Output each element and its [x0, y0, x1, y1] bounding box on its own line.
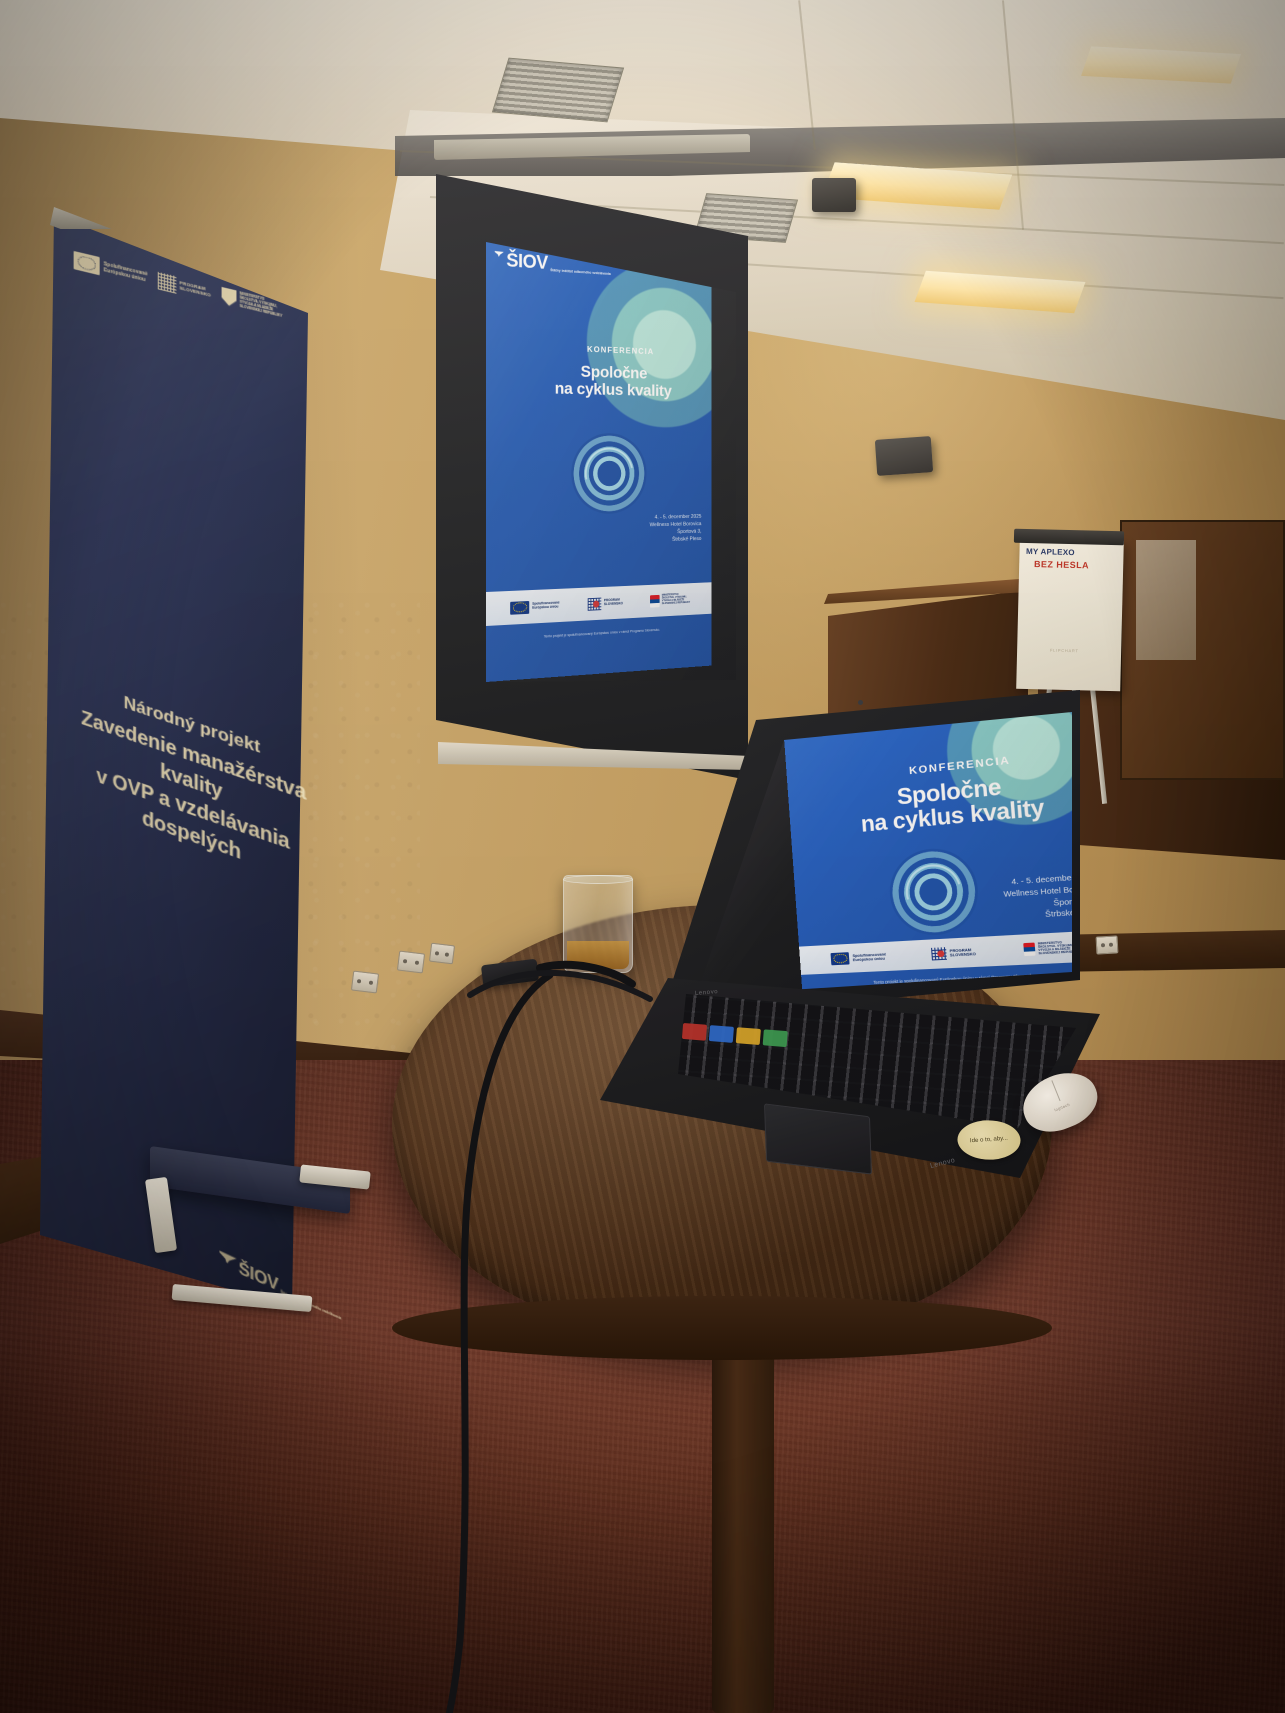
program-line2: SLOVENSKO: [604, 601, 623, 606]
slide-logo-strip: Spolufinancované Európskou úniou PROGRAM…: [799, 929, 1074, 974]
program-slovensko-text: PROGRAM SLOVENSKO: [949, 947, 976, 957]
siov-bird-icon: [219, 1251, 236, 1268]
eu-cofunding-text: Spolufinancované Európskou úniou: [852, 952, 886, 962]
ministry-logo: MINISTERSTVO ŠKOLSTVA, VÝSKUMU, VÝVOJA A…: [1023, 940, 1074, 956]
rollup-program-logo: PROGRAM SLOVENSKO: [158, 271, 211, 301]
wall-speaker: [875, 436, 933, 476]
ministry-logo: MINISTERSTVO ŠKOLSTVA, VÝSKUMU, VÝVOJA A…: [650, 593, 691, 607]
eu-flag-icon: [510, 600, 529, 614]
program-slovensko-logo: PROGRAM SLOVENSKO: [588, 596, 623, 610]
eu-flag-icon: [74, 251, 100, 275]
laptop-round-sticker: Ide o to, aby...: [954, 1118, 1025, 1161]
slide-headline: Spoločne na cyklus kvality: [524, 361, 698, 400]
slide-logo-strip: Spolufinancované Európskou úniou PROGRAM…: [486, 582, 711, 626]
flipchart-text-line2: BEZ HESLA: [1034, 559, 1114, 571]
ministry-line4: SLOVENSKEJ REPUBLIKY: [662, 601, 690, 605]
program-slovensko-logo: PROGRAM SLOVENSKO: [931, 946, 976, 961]
rollup-ministry-logo: MINISTERSTVO ŠKOLSTVA, VÝSKUMU, VÝVOJA A…: [222, 286, 283, 318]
laptop-sticker: [763, 1029, 788, 1047]
slide-headline-line2: na cyklus kvality: [524, 379, 698, 401]
eu-cofunding-text: Spolufinancované Európskou úniou: [532, 602, 559, 611]
rollup-siov-logo: ŠIOV Štátny inštitút odborného vzdelávan…: [219, 1254, 341, 1322]
eu-line2: Európskou úniou: [853, 957, 885, 963]
webcam-icon: [858, 700, 863, 705]
rollup-logo-row: Spolufinancované Európskou úniou PROGRAM…: [74, 251, 298, 323]
projected-slide: ŠIOV Štátny inštitút odborného vzdelávan…: [486, 240, 711, 682]
mouse-button-split: [1051, 1080, 1060, 1101]
cycle-arrow-icon: [576, 438, 642, 509]
program-slovensko-icon: [588, 597, 602, 610]
rollup-siov-wordmark: ŠIOV: [239, 1262, 279, 1294]
conference-room-photo: MY APLEXO BEZ HESLA FLIPCHART ŠIOV Štátn…: [0, 0, 1285, 1713]
eu-cofunding-logo: Spolufinancované Európskou úniou: [831, 950, 887, 965]
laptop-slide: ŠIOV Štátny inštitút odborného vzdelávan…: [782, 696, 1074, 1001]
rollup-eu-logo: Spolufinancované Európskou úniou: [74, 251, 148, 287]
siov-wordmark: ŠIOV: [506, 253, 548, 272]
eu-flag-icon: [831, 952, 850, 965]
program-slovensko-text: PROGRAM SLOVENSKO: [604, 599, 623, 607]
ministry-text: MINISTERSTVO ŠKOLSTVA, VÝSKUMU, VÝVOJA A…: [662, 594, 690, 606]
rollup-program-text: PROGRAM SLOVENSKO: [180, 280, 211, 299]
cabinet-glass-panel: [1136, 540, 1196, 660]
flipchart-clamp: [1014, 529, 1124, 546]
siov-logo-subtitle: Štátny inštitút odborného vzdelávania: [550, 268, 611, 276]
usb-cable: [440, 955, 700, 1075]
quality-cycle-mark-icon: [887, 845, 981, 937]
laptop-trackpad[interactable]: [764, 1103, 872, 1174]
mouse-brand-label: logitech: [1054, 1102, 1071, 1113]
slide-venue-block: 4. - 5. december 2025 Wellness Hotel Bor…: [1002, 871, 1074, 924]
slide-venue-block: 4. - 5. december 2025 Wellness Hotel Bor…: [650, 514, 702, 545]
slovak-crest-icon: [1023, 943, 1035, 957]
program-slovensko-icon: [931, 947, 947, 960]
siov-bird-icon: [495, 251, 504, 257]
eu-line2: Európskou úniou: [532, 604, 558, 609]
slide-footnote: Tento projekt je spolufinancovaný Európs…: [486, 625, 711, 642]
program-line2: SLOVENSKO: [950, 952, 976, 958]
eu-cofunding-logo: Spolufinancované Európskou úniou: [510, 599, 559, 614]
ceiling-speaker: [812, 178, 856, 212]
rollup-banner-content: Spolufinancované Európskou úniou PROGRAM…: [40, 195, 343, 1457]
rollup-ministry-text: MINISTERSTVO ŠKOLSTVA, VÝSKUMU, VÝVOJA A…: [240, 291, 283, 318]
wall-outlet: [351, 970, 379, 993]
cycle-arrow-icon: [896, 855, 972, 930]
venue-town: Štrbské Pleso: [650, 536, 702, 545]
ministry-text: MINISTERSTVO ŠKOLSTVA, VÝSKUMU, VÝVOJA A…: [1038, 940, 1074, 956]
program-slovensko-icon: [158, 271, 177, 293]
quality-cycle-mark-icon: [571, 433, 646, 515]
ministry-line4: SLOVENSKEJ REPUBLIKY: [1038, 949, 1074, 955]
ceiling-vent: [492, 58, 624, 123]
slovak-crest-icon: [222, 286, 237, 307]
laptop-sticker-note: Ide o to, aby...: [954, 1118, 1025, 1161]
rollup-eu-text: Spolufinancované Európskou úniou: [104, 261, 148, 284]
flipchart-watermark: FLIPCHART: [1050, 648, 1079, 654]
slovak-crest-icon: [650, 594, 660, 607]
rollup-heading: Národný projekt Zavedenie manažérstva kv…: [70, 675, 319, 895]
slide-kicker: KONFERENCIA: [553, 343, 687, 358]
